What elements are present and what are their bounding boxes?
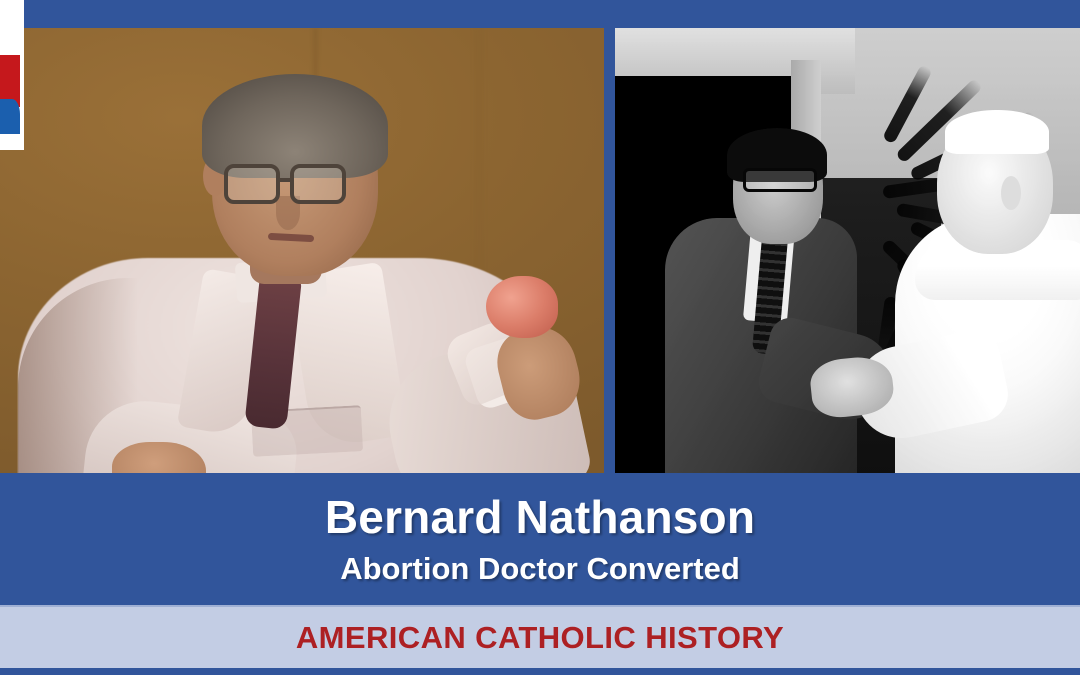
pope-ear xyxy=(1001,176,1021,210)
brand-name: AMERICAN CATHOLIC HISTORY xyxy=(296,620,784,656)
hair xyxy=(202,74,388,178)
logo-white-band xyxy=(0,134,20,142)
specimen xyxy=(486,276,558,338)
american-catholic-history-logo-icon[interactable] xyxy=(0,0,24,150)
eyeglass-lens-left xyxy=(224,164,280,204)
title-band: Bernard Nathanson Abortion Doctor Conver… xyxy=(0,473,1080,605)
bottom-rule xyxy=(0,668,1080,675)
pope-zucchetto xyxy=(945,110,1049,154)
eyeglass-bridge xyxy=(279,178,293,182)
eyeglasses xyxy=(743,168,817,192)
eyeglass-lens-right xyxy=(290,164,346,204)
page-subtitle: Abortion Doctor Converted xyxy=(340,553,740,586)
photo-nathanson-with-pope xyxy=(615,28,1080,473)
page-title: Bernard Nathanson xyxy=(325,493,755,541)
brand-band: AMERICAN CATHOLIC HISTORY xyxy=(0,605,1080,668)
photo-nathanson-lab-coat xyxy=(0,28,604,473)
logo-blue-band xyxy=(0,99,20,137)
photo-band xyxy=(0,0,1080,473)
